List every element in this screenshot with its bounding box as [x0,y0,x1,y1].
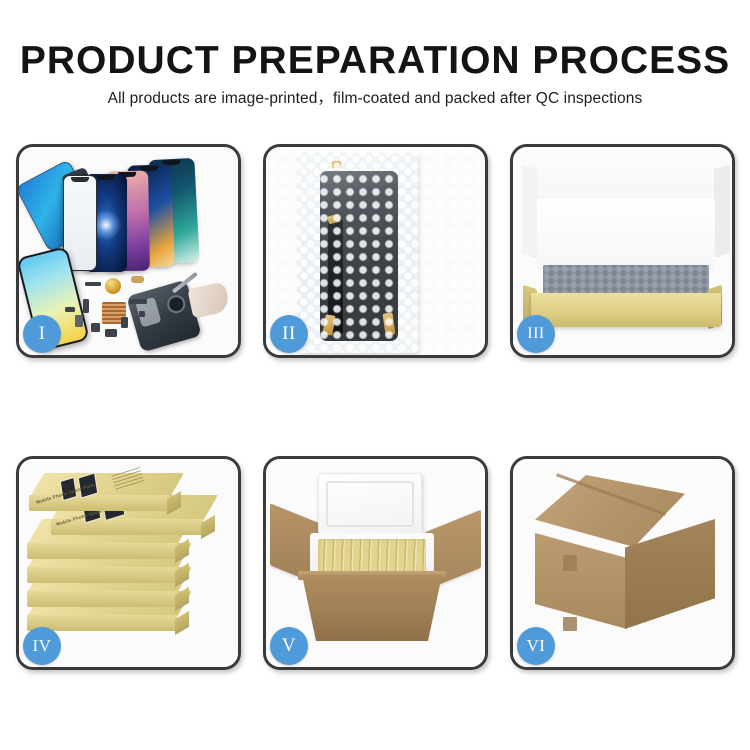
white-foam-sheet [537,199,715,271]
tweezers-and-hand [187,281,230,318]
yellow-box-front [531,293,721,327]
step-panel-4: Mobile Phone Spare Parts Mobile Phone Sp… [16,456,241,670]
yellow-boxes-inside [318,539,426,575]
part-bit [105,329,117,337]
box-front-face [27,567,177,583]
step-badge-1: I [23,315,61,353]
part-bit [129,299,147,304]
carton-tape-mark [563,617,577,631]
part-bit [83,299,89,313]
step-badge-6: VI [517,627,555,665]
part-bit [75,315,83,327]
box-front-face [27,591,177,607]
notch-icon [97,175,115,180]
carton-tape-mark [563,555,577,571]
box-stack: Mobile Phone Spare Parts Mobile Phone Sp… [27,473,235,659]
part-bit [91,323,100,332]
box-front-face [27,543,177,559]
step-panel-2: II [263,144,488,358]
part-bit [139,311,145,317]
carton-left-face [535,533,627,629]
carton-body [302,575,442,641]
step-panel-3: III [510,144,735,358]
step-badge-2: II [270,315,308,353]
part-bit [65,307,75,312]
foam-lid [318,473,422,535]
retail-box-top-printed [29,473,169,511]
part-bit [121,317,128,328]
notch-icon [71,177,89,182]
granule-padding [543,265,709,295]
step-panel-6: VI [510,456,735,670]
step-badge-4: IV [23,627,61,665]
step-badge-5: V [270,627,308,665]
step-panel-5: V [263,456,488,670]
product-preparation-infographic: PRODUCT PREPARATION PROCESS All products… [0,0,750,750]
process-step-grid: I II [0,0,750,750]
speaker-module-icon [105,278,121,294]
step-badge-3: III [517,315,555,353]
step-panel-1: I [16,144,241,358]
part-bit [85,282,101,286]
part-bit [131,276,144,283]
